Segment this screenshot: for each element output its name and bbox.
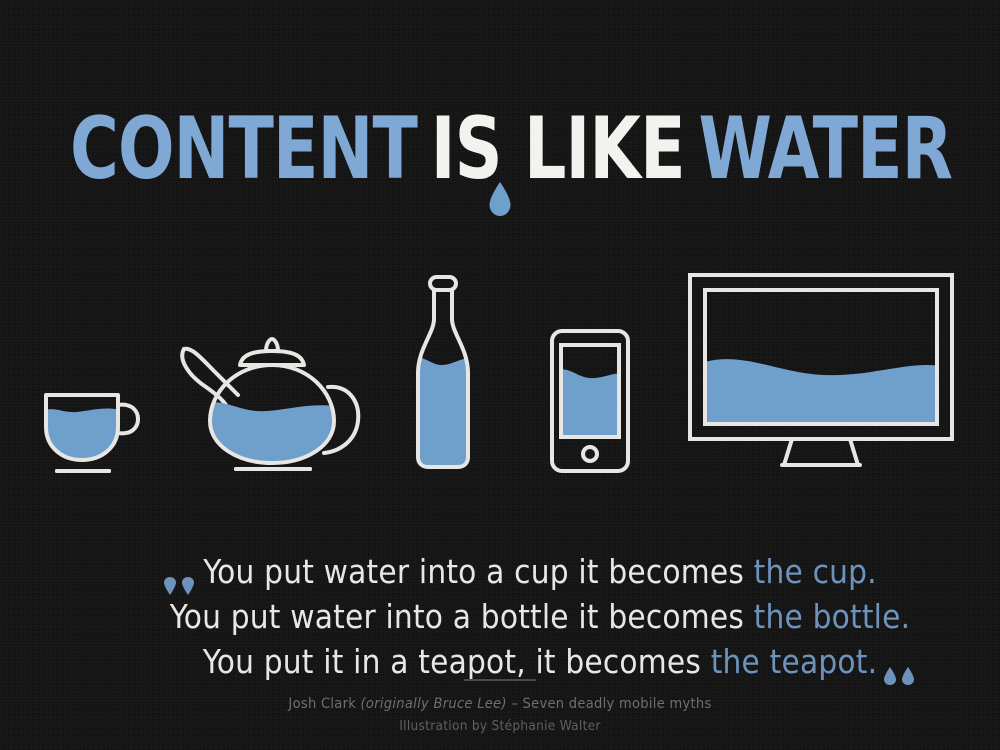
quote-block: You put water into a cup it becomes the …	[40, 549, 1000, 684]
credit-author: Josh Clark	[288, 696, 360, 712]
quote-line-1-highlight: the cup.	[754, 552, 877, 591]
quote-close-icon	[882, 651, 916, 669]
vessel-cup	[36, 375, 156, 480]
vessel-illustration-row	[0, 255, 1000, 485]
quote-line-1: You put water into a cup it becomes the …	[40, 549, 1000, 594]
poster-canvas: CONTENTIS LIKEWATER	[0, 0, 1000, 750]
credit-attribution: Josh Clark (originally Bruce Lee) – Seve…	[0, 693, 1000, 715]
vessel-teapot	[168, 333, 364, 480]
quote-line-2-text: You put water into a bottle it becomes	[170, 597, 754, 636]
credits-block: Josh Clark (originally Bruce Lee) – Seve…	[0, 693, 1000, 737]
title-word-water: WATER	[698, 99, 952, 199]
vessel-phone	[548, 327, 632, 480]
title-word-is-like: IS LIKE	[431, 99, 685, 199]
credit-source: – Seven deadly mobile myths	[507, 696, 712, 712]
quote-line-3: You put it in a teapot, it becomes the t…	[40, 639, 1000, 684]
vessel-bottle	[408, 273, 478, 480]
quote-line-2: You put water into a bottle it becomes t…	[40, 594, 1000, 639]
quote-line-2-highlight: the bottle.	[754, 597, 911, 636]
title-word-content: CONTENT	[70, 99, 417, 199]
credit-author-note: (originally Bruce Lee)	[361, 696, 507, 712]
page-title: CONTENTIS LIKEWATER	[70, 106, 930, 192]
quote-line-3-text: You put it in a teapot, it becomes	[203, 642, 711, 681]
quote-line-1-text: You put water into a cup it becomes	[203, 552, 753, 591]
credit-illustration: Illustration by Stéphanie Walter	[0, 715, 1000, 737]
credits-divider	[464, 679, 536, 681]
water-droplet-icon	[489, 182, 511, 216]
vessel-monitor	[684, 269, 958, 480]
quote-line-3-highlight: the teapot.	[711, 642, 878, 681]
